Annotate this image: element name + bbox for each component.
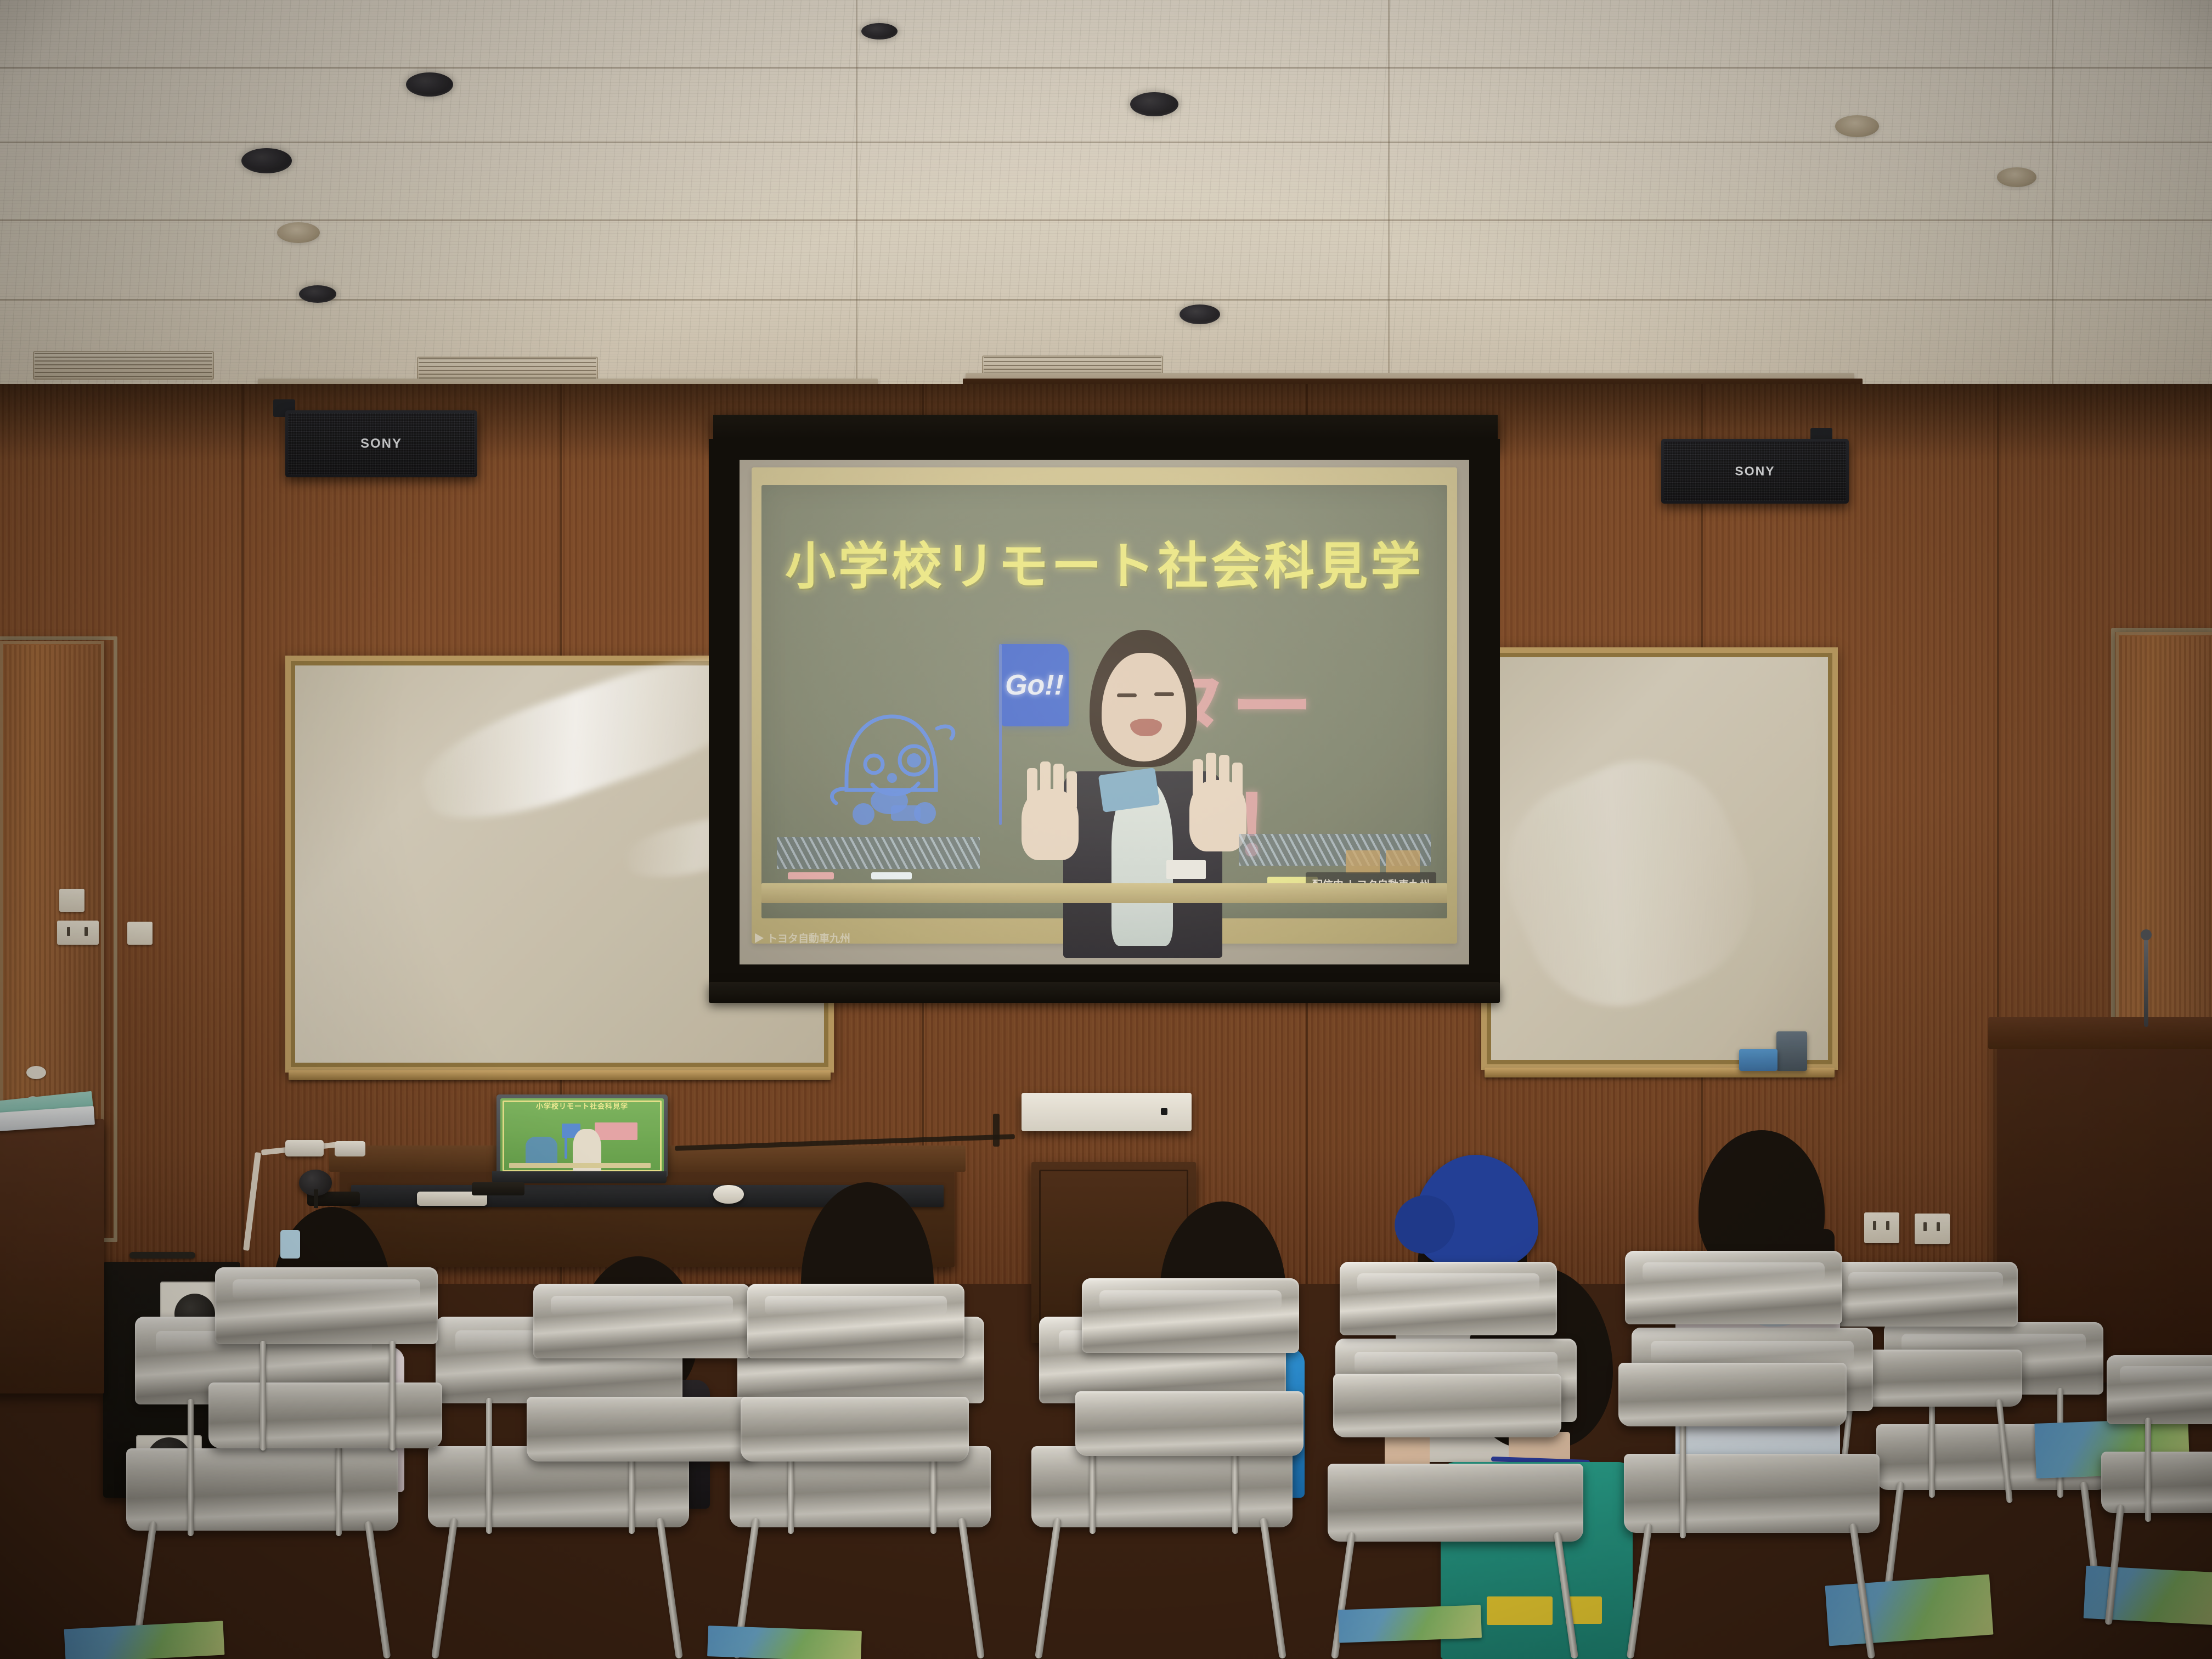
screen-weight-bar [709,982,1500,1003]
metal-folding-chair[interactable] [1333,1262,1564,1492]
usb-hub[interactable] [472,1182,524,1195]
laptop-slide-title: 小学校リモート社会科見学 [500,1101,664,1111]
chalk-white [871,872,912,879]
presenter-figure [1025,624,1255,953]
ceiling [0,0,2212,417]
whiteboard-tray [289,1070,831,1080]
presenter-laptop[interactable]: 小学校リモート社会科見学 [496,1094,672,1196]
recessed-downlight [1997,167,2036,187]
sony-speaker-left: SONY [285,410,477,477]
recessed-downlight [406,72,453,97]
recessed-downlight [277,222,320,243]
recessed-downlight [241,148,292,173]
whiteboard-right [1481,647,1838,1070]
handout-pamphlet[interactable] [1338,1605,1482,1643]
slide-content: 小学校リモート社会科見学 タート！ Go!! [740,460,1469,964]
sony-logo: SONY [1661,464,1849,479]
presenter-scarf [1098,768,1160,812]
flag-pole [999,644,1002,825]
microphone-head-icon [2141,929,2152,940]
recessed-downlight [1180,304,1220,324]
metal-folding-chair[interactable] [527,1284,757,1514]
wall-outlet[interactable] [1864,1212,1899,1243]
wall-outlet[interactable] [127,922,153,945]
handout-pamphlet[interactable] [707,1626,862,1659]
wall-outlet[interactable] [57,921,99,945]
light-switch[interactable] [59,889,84,912]
metal-folding-chair[interactable] [1618,1251,1849,1481]
slide-title: 小学校リモート社会科見学 [740,526,1469,599]
presenter-name-badge [1166,860,1206,879]
recessed-downlight [1835,115,1879,137]
wireless-access-point [1022,1093,1192,1131]
car-mascot-icon [822,696,964,827]
lectern-microphone[interactable] [2144,939,2148,1027]
recessed-downlight [1130,92,1178,116]
microphone-stand [314,1189,318,1208]
sony-logo: SONY [285,436,477,452]
wall-outlet[interactable] [1915,1214,1950,1244]
sony-speaker-right: SONY [1661,439,1849,504]
meeting-room-photo: SONY SONY 小学校リモート社会科見学 タート！ [0,0,2212,1659]
light-blue-hair-clip [280,1230,300,1259]
blue-baseball-cap [1413,1155,1538,1270]
marker-cup [1776,1031,1807,1071]
metal-folding-chair[interactable] [741,1284,971,1514]
projection-screen-surface: 小学校リモート社会科見学 タート！ Go!! [740,460,1469,964]
door-sign-icon [26,1066,46,1079]
handout-pamphlet[interactable] [64,1621,225,1659]
recessed-downlight [861,23,898,39]
cable-plug [335,1141,365,1156]
eraser [1739,1049,1778,1071]
metal-folding-chair[interactable] [2101,1355,2212,1613]
presenter-face [1102,653,1186,761]
metal-folding-chair[interactable] [1075,1278,1306,1509]
metal-folding-chair[interactable] [208,1267,444,1503]
broadcast-watermark: トヨタ自動車九州 [755,930,850,945]
chalk-pink [788,872,834,879]
computer-mouse[interactable] [713,1185,744,1204]
chalk-ledge [761,883,1447,903]
side-table-left [0,1119,104,1393]
laptop-screen: 小学校リモート社会科見学 [500,1098,664,1174]
play-triangle-icon [755,933,764,943]
chalkboard-strip [777,837,980,869]
recessed-downlight [299,285,336,303]
cable-plug [285,1140,324,1156]
hdmi-cable [993,1114,1000,1147]
ceiling-air-vent [33,351,214,380]
